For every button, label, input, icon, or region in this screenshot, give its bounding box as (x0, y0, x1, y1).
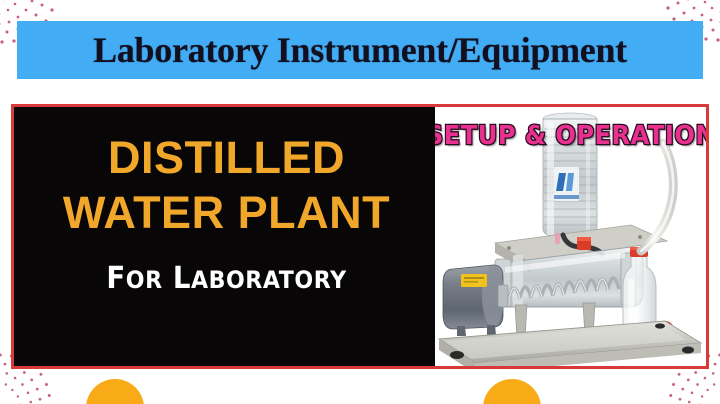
electric-motor (443, 265, 508, 336)
subheadline: FOR LABORATORY (53, 261, 400, 296)
title-banner: Laboratory Instrument/Equipment (17, 21, 703, 79)
subheadline-or: OR (126, 266, 163, 294)
content-inner: DISTILLED WATER PLANT FOR LABORATORY (14, 107, 706, 366)
subheadline-l: L (173, 261, 191, 296)
page-title: Laboratory Instrument/Equipment (93, 29, 627, 71)
headline-line-2: WATER PLANT (38, 186, 415, 241)
subheadline-f: F (106, 261, 125, 296)
poster-canvas: Laboratory Instrument/Equipment DISTILLE… (0, 0, 720, 404)
decorative-circle-left (86, 379, 144, 404)
product-photo: SETUP & OPERATION (435, 107, 706, 366)
headline-panel: DISTILLED WATER PLANT FOR LABORATORY (14, 107, 435, 366)
headline: DISTILLED WATER PLANT (38, 131, 415, 241)
decorative-circle-right (483, 379, 541, 404)
glass-condenser (491, 247, 643, 307)
overlay-caption: SETUP & OPERATION (435, 121, 706, 151)
content-frame: DISTILLED WATER PLANT FOR LABORATORY (11, 104, 709, 369)
headline-line-1: DISTILLED (38, 131, 415, 186)
subheadline-aboratory: ABORATORY (191, 266, 347, 294)
